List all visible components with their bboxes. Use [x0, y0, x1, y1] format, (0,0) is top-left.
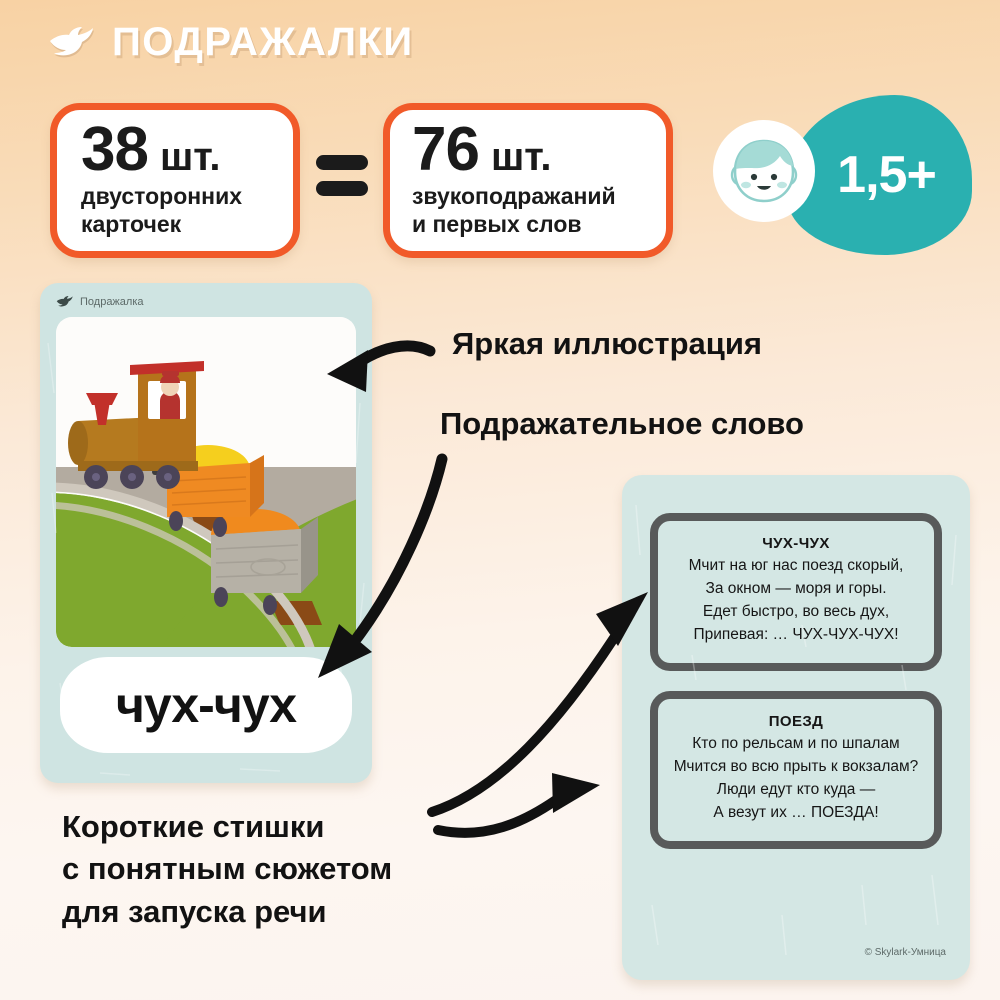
flashcard-text-side[interactable]: ЧУХ-ЧУХ Мчит на юг нас поезд скорый, За …: [622, 475, 970, 980]
train-illustration: [56, 317, 356, 647]
infographic-page: ПОДРАЖАЛКИ 38 шт. двусторонних карточек …: [0, 0, 1000, 1000]
poem-1-title: ЧУХ-ЧУХ: [668, 535, 924, 552]
poem-1-line-2: За окном — моря и горы.: [668, 578, 924, 601]
bird-icon: [56, 295, 73, 308]
bird-icon: [48, 25, 94, 59]
poem-2-line-2: Мчится во всю прыть к вокзалам?: [668, 756, 924, 779]
card-word: чух-чух: [116, 676, 296, 734]
copyright-label: © Skylark-Умница: [865, 947, 946, 958]
child-face-icon: [725, 132, 803, 210]
poem-2-line-4: А везут их … ПОЕЗДА!: [668, 802, 924, 825]
annotation-illustration: Яркая иллюстрация: [452, 326, 762, 362]
annotation-word: Подражательное слово: [440, 406, 804, 442]
stat-right-unit: шт.: [491, 137, 552, 177]
annotation-poems-line-2: с понятным сюжетом: [62, 848, 392, 890]
poem-block-1: ЧУХ-ЧУХ Мчит на юг нас поезд скорый, За …: [650, 513, 942, 671]
equals-bar-top: [316, 155, 368, 170]
flashcard-picture-side[interactable]: Подражалка: [40, 283, 372, 783]
word-plate: чух-чух: [60, 657, 352, 753]
poem-2-title: ПОЕЗД: [668, 713, 924, 730]
poem-1-line-1: Мчит на юг нас поезд скорый,: [668, 555, 924, 578]
age-badge: 1,5+: [705, 95, 970, 255]
poem-block-2: ПОЕЗД Кто по рельсам и по шпалам Мчится …: [650, 691, 942, 849]
annotation-poems: Короткие стишки с понятным сюжетом для з…: [62, 806, 392, 933]
arrow-to-poem-1: [432, 592, 648, 812]
stat-right-number: 76: [412, 121, 479, 180]
age-label: 1,5+: [837, 145, 936, 205]
stat-card-cards-count: 38 шт. двусторонних карточек: [50, 103, 300, 258]
stat-left-subtitle-line2: карточек: [81, 210, 277, 238]
brand-header: ПОДРАЖАЛКИ: [48, 22, 414, 62]
poem-1-line-3: Едет быстро, во весь дух,: [668, 601, 924, 624]
equals-icon: [316, 155, 368, 196]
arrow-to-poem-2: [438, 773, 600, 833]
train-scene-svg: [56, 317, 356, 647]
poem-2-line-3: Люди едут кто куда —: [668, 779, 924, 802]
poem-1-line-4: Припевая: … ЧУХ-ЧУХ-ЧУХ!: [668, 624, 924, 647]
stat-left-unit: шт.: [160, 137, 221, 177]
stat-left-number: 38: [81, 121, 148, 180]
stat-right-headline: 76 шт.: [412, 121, 650, 180]
card-brand-tag: Подражалка: [56, 295, 144, 308]
child-face-badge: [713, 120, 815, 222]
stat-left-headline: 38 шт.: [81, 121, 277, 180]
stat-left-subtitle-line1: двусторонних: [81, 182, 277, 210]
stat-card-sounds-count: 76 шт. звукоподражаний и первых слов: [383, 103, 673, 258]
annotation-poems-line-3: для запуска речи: [62, 891, 392, 933]
card-tag-label: Подражалка: [80, 296, 144, 308]
stat-right-subtitle-line2: и первых слов: [412, 210, 650, 238]
annotation-poems-line-1: Короткие стишки: [62, 806, 392, 848]
stat-right-subtitle-line1: звукоподражаний: [412, 182, 650, 210]
page-title: ПОДРАЖАЛКИ: [112, 22, 414, 62]
equals-bar-bottom: [316, 181, 368, 196]
poem-2-line-1: Кто по рельсам и по шпалам: [668, 733, 924, 756]
